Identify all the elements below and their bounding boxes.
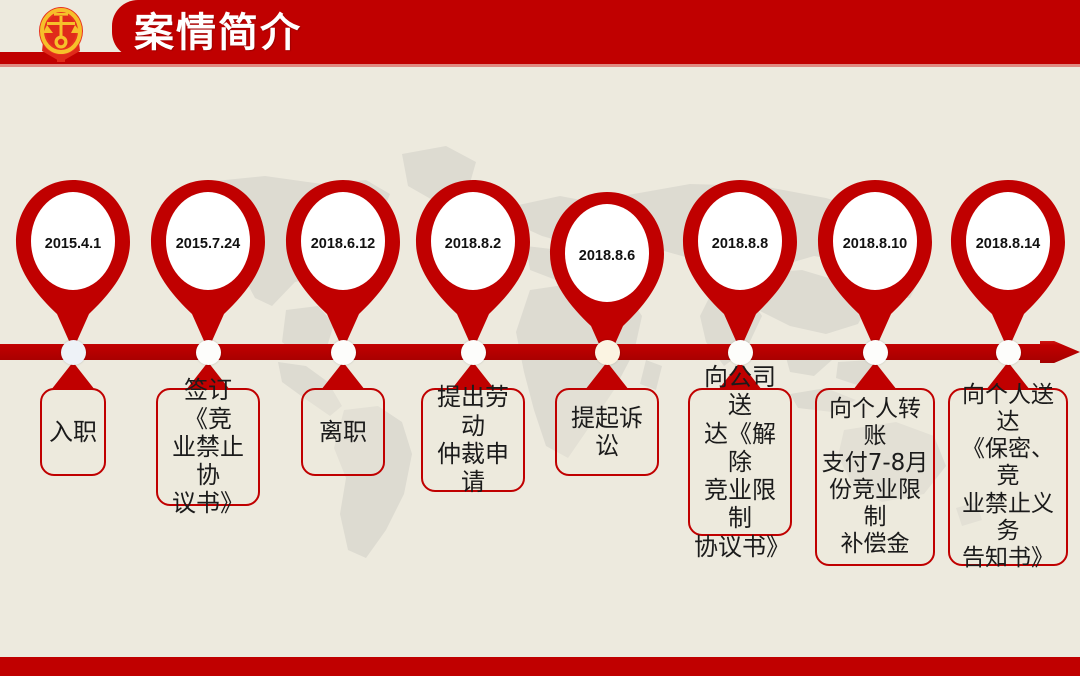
pin-date-7: 2018.8.10 bbox=[812, 236, 938, 252]
label-pointer-icon-3 bbox=[321, 362, 365, 390]
timeline-node-5[interactable] bbox=[595, 340, 620, 365]
label-pointer-icon-5 bbox=[585, 362, 629, 390]
label-text-7: 向个人转账 支付7-8月 份竞业限制 补偿金 bbox=[815, 388, 935, 566]
pin-shape-icon bbox=[145, 178, 271, 353]
timeline-label-5[interactable]: 提起诉讼 bbox=[555, 362, 659, 476]
timeline-node-1[interactable] bbox=[61, 340, 86, 365]
pin-date-1: 2015.4.1 bbox=[10, 236, 136, 252]
timeline-pin-4[interactable]: 2018.8.2 bbox=[410, 178, 536, 353]
label-text-6: 向公司送 达《解除 竞业限制 协议书》 bbox=[688, 388, 792, 536]
timeline-pin-1[interactable]: 2015.4.1 bbox=[10, 178, 136, 353]
label-text-3: 离职 bbox=[301, 388, 385, 476]
timeline-node-6[interactable] bbox=[728, 340, 753, 365]
pin-shape-icon bbox=[544, 190, 670, 365]
header-hairline bbox=[0, 64, 1080, 67]
timeline-pin-2[interactable]: 2015.7.24 bbox=[145, 178, 271, 353]
page-title: 案情简介 bbox=[134, 1, 302, 57]
pin-shape-icon bbox=[812, 178, 938, 353]
timeline-pin-6[interactable]: 2018.8.8 bbox=[677, 178, 803, 353]
timeline-label-1[interactable]: 入职 bbox=[40, 362, 106, 476]
timeline-node-2[interactable] bbox=[196, 340, 221, 365]
pin-date-4: 2018.8.2 bbox=[410, 236, 536, 252]
label-text-4: 提出劳动 仲裁申请 bbox=[421, 388, 525, 492]
timeline-label-2[interactable]: 签订《竞 业禁止协 议书》 bbox=[156, 362, 260, 506]
pin-shape-icon bbox=[945, 178, 1071, 353]
timeline-label-4[interactable]: 提出劳动 仲裁申请 bbox=[421, 362, 525, 492]
pin-date-8: 2018.8.14 bbox=[945, 236, 1071, 252]
label-text-2: 签订《竞 业禁止协 议书》 bbox=[156, 388, 260, 506]
timeline-pin-7[interactable]: 2018.8.10 bbox=[812, 178, 938, 353]
label-text-8: 向个人送达 《保密、竞 业禁止义务 告知书》 bbox=[948, 388, 1068, 566]
pin-shape-icon bbox=[10, 178, 136, 353]
timeline-node-7[interactable] bbox=[863, 340, 888, 365]
pin-date-3: 2018.6.12 bbox=[280, 236, 406, 252]
timeline-pin-5[interactable]: 2018.8.6 bbox=[544, 190, 670, 365]
pin-shape-icon bbox=[280, 178, 406, 353]
timeline-node-8[interactable] bbox=[996, 340, 1021, 365]
china-court-emblem-icon bbox=[30, 2, 92, 64]
page-header: 案情简介 bbox=[0, 0, 1080, 67]
timeline-pin-8[interactable]: 2018.8.14 bbox=[945, 178, 1071, 353]
timeline-label-3[interactable]: 离职 bbox=[301, 362, 385, 476]
pin-date-5: 2018.8.6 bbox=[544, 248, 670, 264]
footer-bar bbox=[0, 657, 1080, 676]
label-text-5: 提起诉讼 bbox=[555, 388, 659, 476]
pin-date-6: 2018.8.8 bbox=[677, 236, 803, 252]
pin-shape-icon bbox=[410, 178, 536, 353]
timeline-node-4[interactable] bbox=[461, 340, 486, 365]
timeline-node-3[interactable] bbox=[331, 340, 356, 365]
timeline-pin-3[interactable]: 2018.6.12 bbox=[280, 178, 406, 353]
timeline-label-8[interactable]: 向个人送达 《保密、竞 业禁止义务 告知书》 bbox=[948, 362, 1068, 566]
pin-shape-icon bbox=[677, 178, 803, 353]
label-text-1: 入职 bbox=[40, 388, 106, 476]
timeline-label-6[interactable]: 向公司送 达《解除 竞业限制 协议书》 bbox=[688, 362, 792, 536]
label-pointer-icon-7 bbox=[853, 362, 897, 390]
label-pointer-icon-1 bbox=[51, 362, 95, 390]
pin-date-2: 2015.7.24 bbox=[145, 236, 271, 252]
timeline-label-7[interactable]: 向个人转账 支付7-8月 份竞业限制 补偿金 bbox=[815, 362, 935, 566]
